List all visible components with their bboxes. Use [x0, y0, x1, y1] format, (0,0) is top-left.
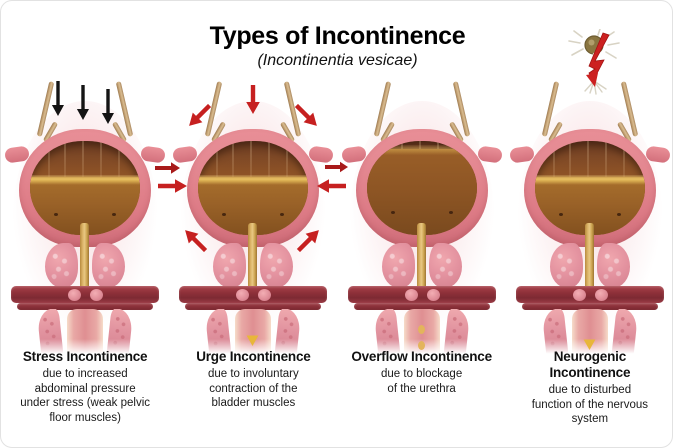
- pressure-arrow-2-icon: [76, 85, 90, 121]
- caption-body: due to increased abdominal pressure unde…: [7, 367, 163, 426]
- prostate-right: [429, 243, 462, 288]
- caption-stress: Stress Incontinence due to increased abd…: [1, 349, 169, 427]
- bladder-cavity: [535, 141, 645, 235]
- contraction-arrow-top-icon: [245, 85, 261, 115]
- panel-neurogenic: [506, 73, 673, 355]
- urethral-sphincter-left: [573, 289, 586, 301]
- caption-body: due to disturbed function of the nervous…: [512, 383, 668, 427]
- panel-urge: [169, 73, 337, 355]
- caption-urge: Urge Incontinence due to involuntary con…: [169, 349, 337, 427]
- urethral-blockage: [418, 325, 425, 334]
- contraction-arrow-left-icon: [158, 178, 188, 194]
- urethral-sphincter-left: [236, 289, 249, 301]
- prostate-right: [92, 243, 125, 288]
- prostate-left: [45, 243, 78, 288]
- urethral-sphincter-left: [405, 289, 418, 301]
- caption-neurogenic: Neurogenic Incontinence due to disturbed…: [506, 349, 673, 427]
- pressure-arrow-1-icon: [51, 81, 65, 117]
- anatomy-diagram-overflow: [342, 73, 502, 355]
- prostate-left: [213, 243, 246, 288]
- caption-body: due to involuntary contraction of the bl…: [175, 367, 331, 411]
- incontinence-infographic: Types of Incontinence (Incontinentia ves…: [0, 0, 673, 448]
- urethral-sphincter-right: [258, 289, 271, 301]
- urethral-sphincter-right: [427, 289, 440, 301]
- bladder-cavity: [198, 141, 308, 235]
- urethral-sphincter-right: [90, 289, 103, 301]
- prostate-right: [260, 243, 293, 288]
- caption-title: Overflow Incontinence: [344, 349, 500, 365]
- urine-stream-arrow-icon: [245, 331, 260, 347]
- anatomy-diagram-stress: [5, 73, 165, 355]
- caption-title: Urge Incontinence: [175, 349, 331, 365]
- caption-body: due to blockage of the urethra: [344, 367, 500, 396]
- bladder-cavity: [367, 141, 477, 235]
- neuron-icon: [562, 29, 632, 109]
- urethral-sphincter-right: [595, 289, 608, 301]
- caption-title: Neurogenic Incontinence: [512, 349, 668, 381]
- prostate-left: [550, 243, 583, 288]
- bladder-cavity: [30, 141, 140, 235]
- anatomy-diagram-urge: [173, 73, 333, 355]
- pelvic-floor-muscle: [516, 286, 664, 303]
- urine-fluid-line: [30, 175, 140, 185]
- panels-row: [1, 73, 673, 355]
- prostate-right: [597, 243, 630, 288]
- pelvic-floor-muscle: [179, 286, 327, 303]
- urine-fluid-line: [535, 175, 645, 185]
- panel-overflow: [338, 73, 506, 355]
- pelvic-floor-muscle: [348, 286, 496, 303]
- caption-title: Stress Incontinence: [7, 349, 163, 365]
- anatomy-diagram-neurogenic: [510, 73, 670, 355]
- caption-overflow: Overflow Incontinence due to blockage of…: [338, 349, 506, 427]
- captions-row: Stress Incontinence due to increased abd…: [1, 349, 673, 427]
- urine-fluid-line: [367, 145, 477, 155]
- prostate-left: [382, 243, 415, 288]
- pelvic-floor-muscle: [11, 286, 159, 303]
- urethral-sphincter-left: [68, 289, 81, 301]
- panel-stress: [1, 73, 169, 355]
- pressure-arrow-3-icon: [101, 89, 115, 125]
- urine-fluid-line: [198, 175, 308, 185]
